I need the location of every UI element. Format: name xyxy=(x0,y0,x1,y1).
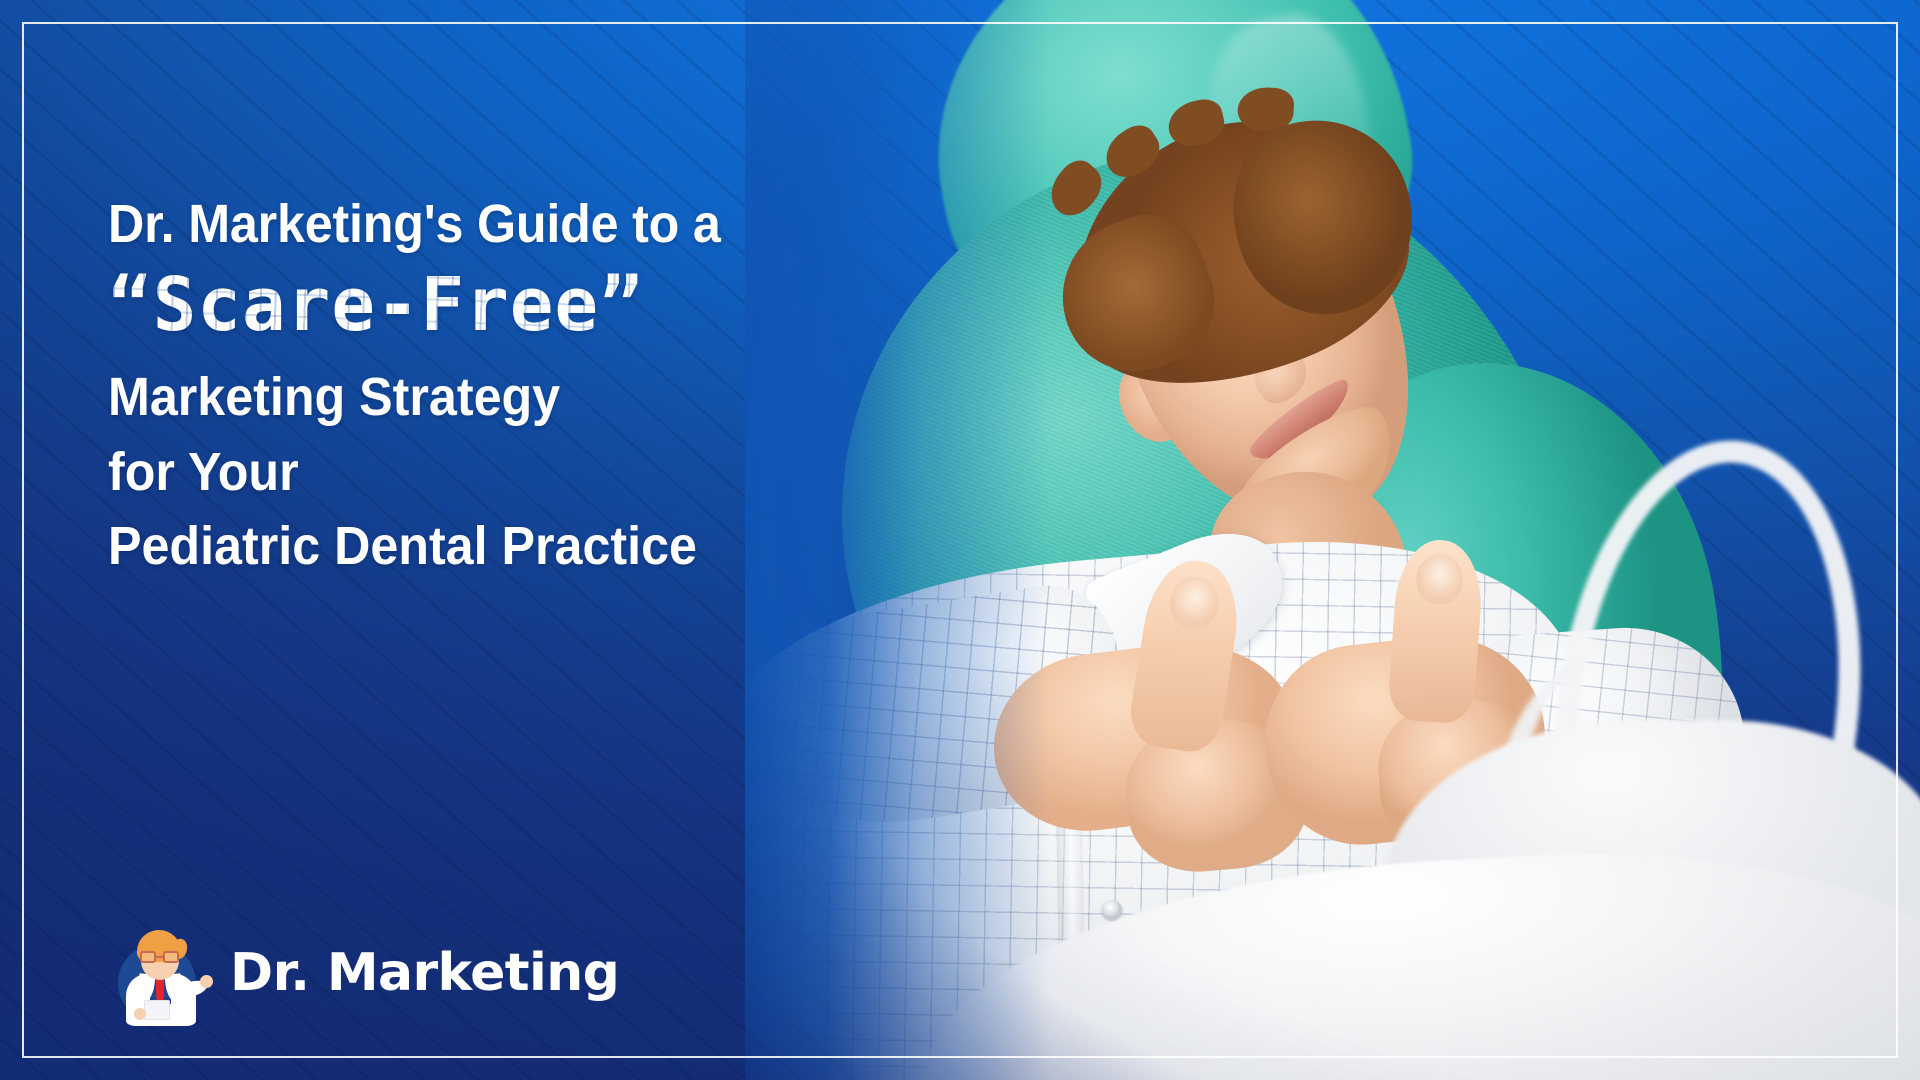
brand-wordmark: Dr. Marketing xyxy=(230,947,619,999)
glasses-lens-right xyxy=(163,951,179,963)
glasses-bridge xyxy=(156,956,163,958)
headline-line-4: for Your xyxy=(108,435,926,510)
doctor-hand xyxy=(134,1008,146,1020)
headline-lines-rest: Marketing Strategy for Your Pediatric De… xyxy=(108,360,926,584)
headline-accent-scare-free: “Scare-Free” xyxy=(108,268,970,342)
brand-logo[interactable]: Dr. Marketing xyxy=(110,924,619,1022)
headline-line-3: Marketing Strategy xyxy=(108,360,926,435)
doctor-pointing-hand xyxy=(200,975,213,988)
doctor-glasses-icon xyxy=(139,951,183,963)
headline-line-1: Dr. Marketing's Guide to a xyxy=(108,196,926,252)
headline-block: Dr. Marketing's Guide to a “Scare-Free” … xyxy=(108,196,988,584)
doctor-pocket xyxy=(144,1000,170,1020)
promo-banner: Dr. Marketing's Guide to a “Scare-Free” … xyxy=(0,0,1920,1080)
glasses-lens-left xyxy=(140,951,156,963)
shirt-button xyxy=(1102,900,1122,920)
headline-line-5: Pediatric Dental Practice xyxy=(108,509,926,584)
doctor-character xyxy=(110,924,208,1022)
doctor-avatar-icon xyxy=(110,924,208,1022)
